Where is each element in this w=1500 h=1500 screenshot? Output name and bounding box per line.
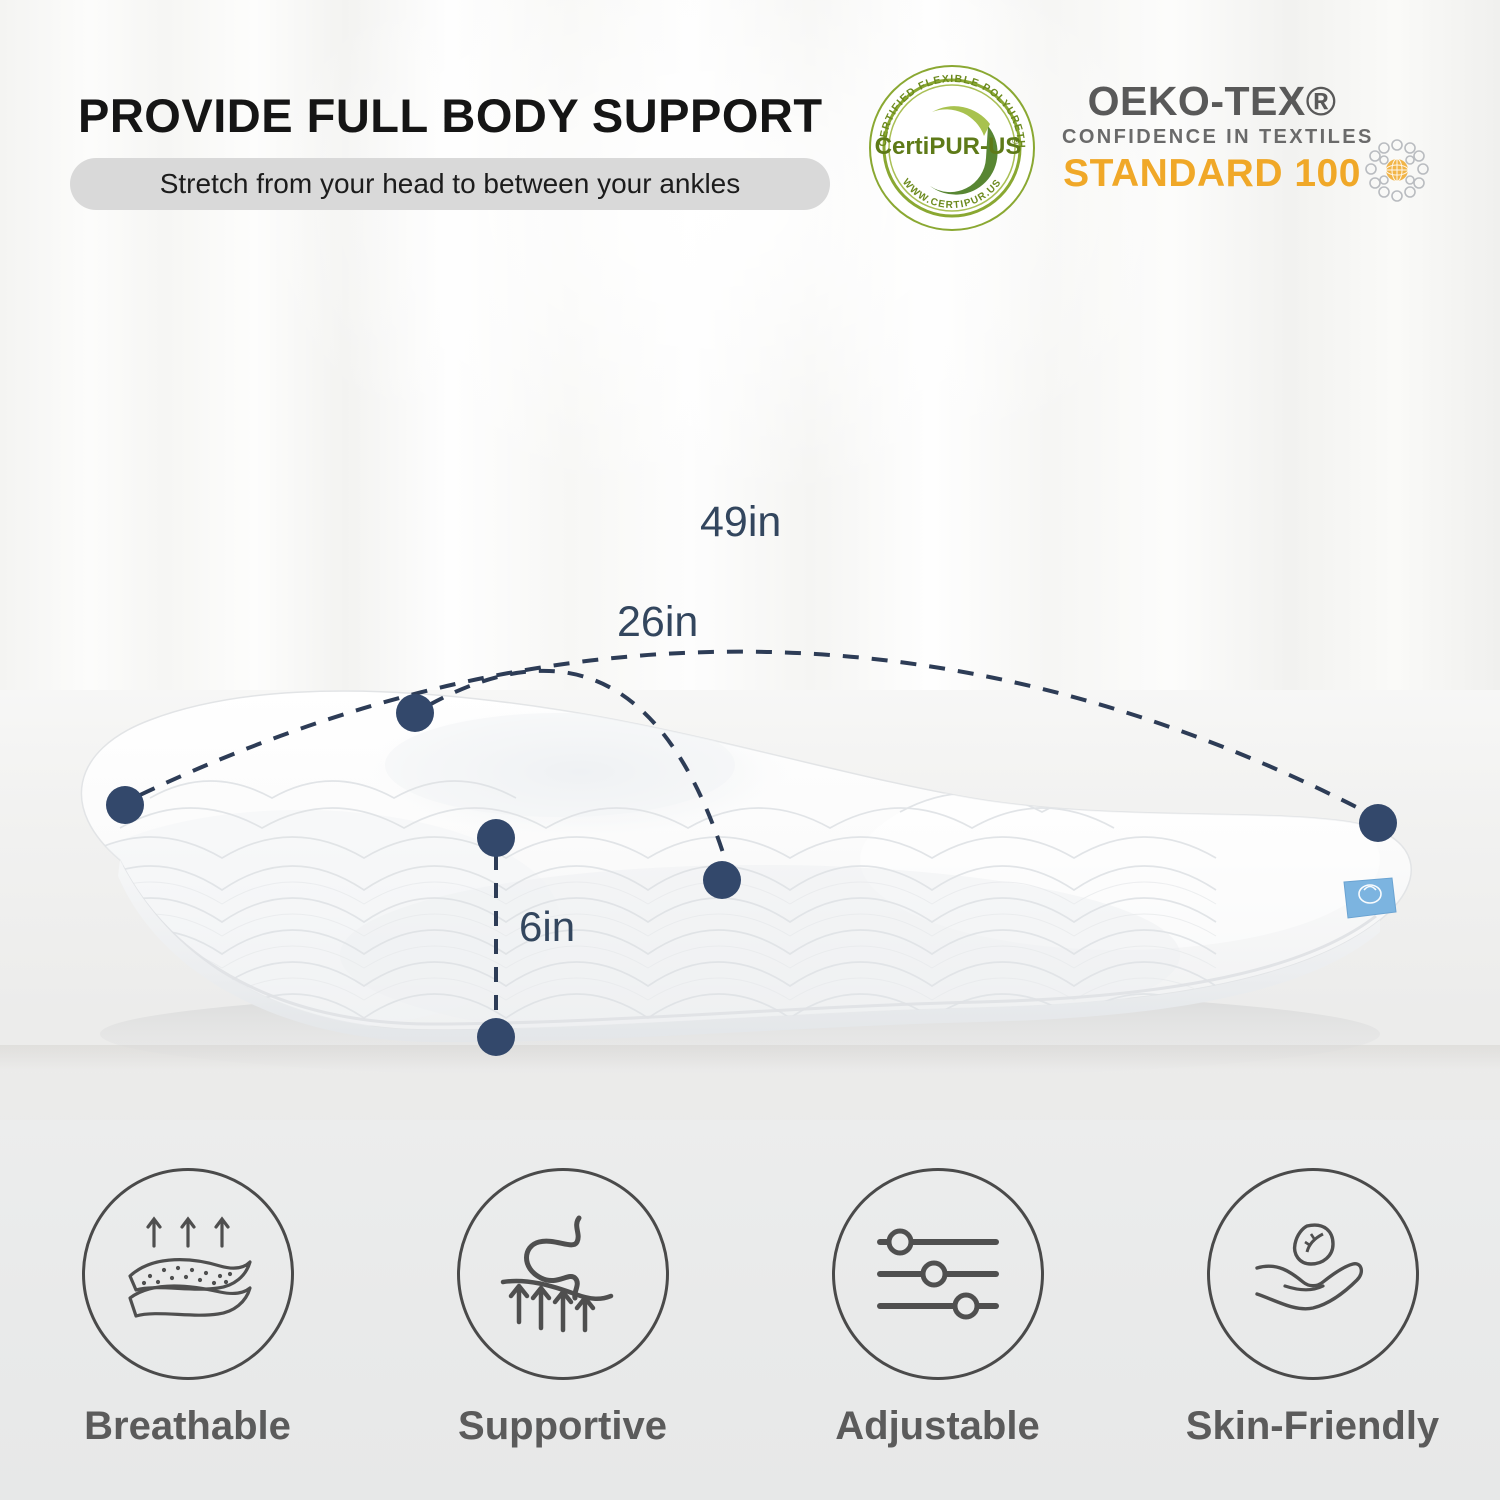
feature-row: Breathable Supportive — [0, 1168, 1500, 1468]
product-photo — [0, 560, 1500, 1100]
subtitle-pill: Stretch from your head to between your a… — [70, 158, 830, 210]
feature-label-skin-friendly: Skin-Friendly — [1186, 1404, 1439, 1449]
oeko-tex-tagline: CONFIDENCE IN TEXTILES — [1062, 126, 1362, 149]
feature-icon-circle — [832, 1168, 1044, 1380]
brand-tag — [1344, 878, 1396, 918]
page-title: PROVIDE FULL BODY SUPPORT — [78, 88, 823, 143]
feature-icon-circle — [457, 1168, 669, 1380]
oeko-tex-globe-emblem — [1362, 136, 1432, 206]
certipur-us-badge: CONTAINS CERTIFIED FLEXIBLE POLYURETHANE… — [866, 62, 1038, 234]
feature-breathable[interactable]: Breathable — [0, 1168, 375, 1468]
spine-support-arrows-icon — [483, 1194, 643, 1354]
certipur-center-text: CertiPUR-US — [875, 133, 1022, 160]
feature-icon-circle — [82, 1168, 294, 1380]
measurement-label-height: 6in — [519, 903, 575, 951]
measurement-label-length: 49in — [700, 498, 781, 547]
feature-label-supportive: Supportive — [458, 1404, 667, 1449]
oeko-tex-title: OEKO-TEX® — [1062, 78, 1362, 125]
subtitle-text: Stretch from your head to between your a… — [160, 168, 741, 200]
feature-supportive[interactable]: Supportive — [375, 1168, 750, 1468]
feature-adjustable[interactable]: Adjustable — [750, 1168, 1125, 1468]
oeko-tex-standard: STANDARD 100 — [1062, 152, 1362, 196]
oeko-tex-badge: OEKO-TEX® CONFIDENCE IN TEXTILES STANDAR… — [1062, 78, 1438, 206]
infographic-page: PROVIDE FULL BODY SUPPORT Stretch from y… — [0, 0, 1500, 1500]
hand-leaf-icon — [1233, 1194, 1393, 1354]
feature-label-breathable: Breathable — [84, 1404, 291, 1449]
feature-label-adjustable: Adjustable — [835, 1404, 1039, 1449]
feature-icon-circle — [1207, 1168, 1419, 1380]
measurement-label-width: 26in — [617, 598, 698, 647]
slider-controls-icon — [858, 1194, 1018, 1354]
breathable-fabric-icon — [108, 1194, 268, 1354]
feature-skin-friendly[interactable]: Skin-Friendly — [1125, 1168, 1500, 1468]
certipur-registered-mark: ® — [1012, 136, 1020, 147]
